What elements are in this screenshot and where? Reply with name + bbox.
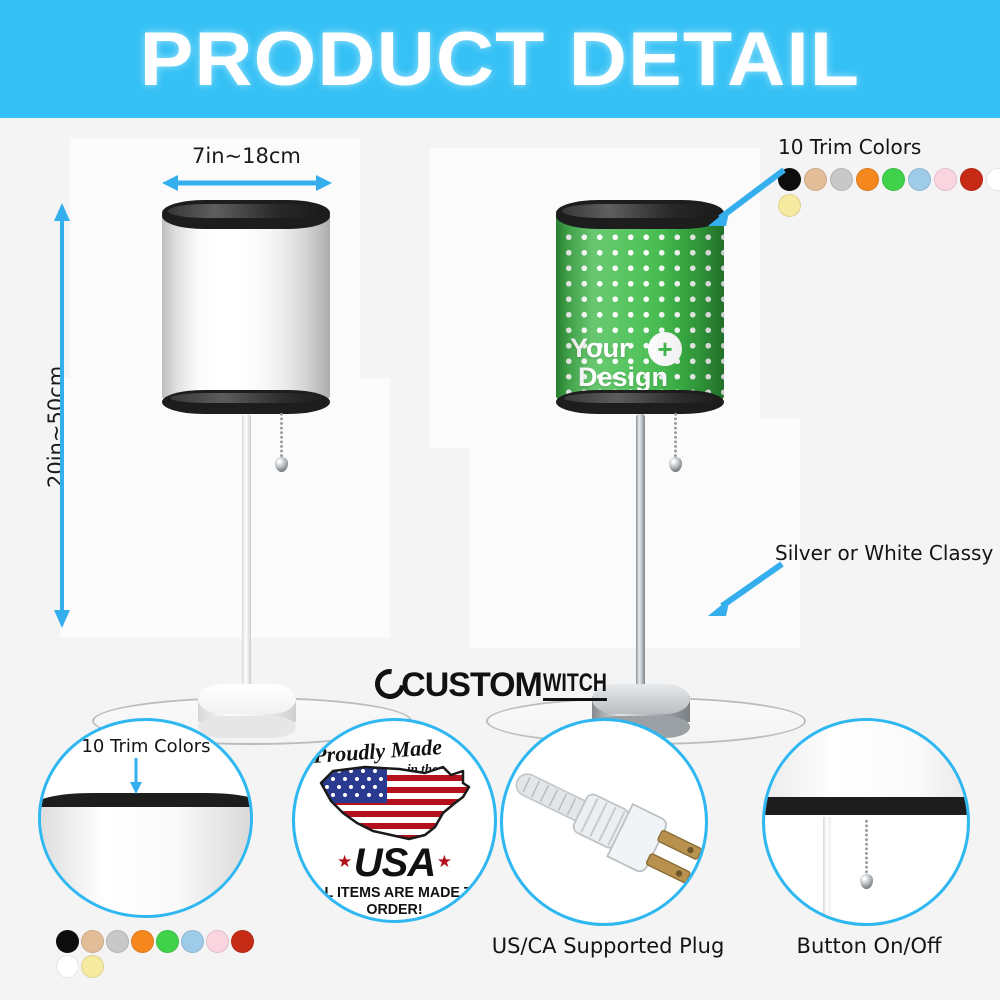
plus-circle-icon: +: [648, 332, 682, 366]
shade-gloss: [162, 210, 330, 400]
feature-trim-colors: 10 Trim Colors: [38, 718, 258, 1000]
pull-chain[interactable]: [280, 412, 282, 460]
swatch-tan[interactable]: [81, 930, 104, 953]
switch-pull-chain[interactable]: [865, 819, 867, 877]
swatch-gray[interactable]: [106, 930, 129, 953]
chain-bead: [669, 457, 682, 472]
usa-badge-footer: ALL ITEMS ARE MADE TO ORDER!: [300, 884, 489, 918]
made-in-usa-circle: Proudly Made in the: [292, 718, 497, 923]
chain-bead: [860, 874, 873, 889]
brand-name-sub: WITCH: [543, 670, 607, 701]
swatch-light-blue[interactable]: [181, 930, 204, 953]
trim-closeup-shade: [38, 807, 253, 918]
switch-shade-surface: [762, 721, 970, 799]
main-showcase: 7in~18cm 20in~50cm: [0, 118, 1000, 678]
lamp-white: [162, 200, 422, 640]
trim-color-swatches-bottom[interactable]: [56, 930, 256, 978]
shade-surface: [162, 210, 330, 400]
page-title: PRODUCT DETAIL: [140, 16, 860, 103]
feature-caption-plug: US/CA Supported Plug: [488, 934, 728, 958]
base-finish-label: Silver or White Classy: [775, 541, 993, 565]
feature-switch: Button On/Off: [762, 718, 982, 978]
shade-surface: Your Design +: [556, 210, 724, 400]
width-dimension-arrow: [162, 174, 332, 192]
base-finish-arrow: [700, 558, 790, 625]
swatch-pink[interactable]: [934, 168, 957, 191]
swatch-pink[interactable]: [206, 930, 229, 953]
chain-line: [280, 412, 283, 460]
swatch-yellow[interactable]: [81, 955, 104, 978]
feature-plug: US/CA Supported Plug: [500, 718, 720, 978]
product-detail-page: PRODUCT DETAIL 7in~18cm 20in~50cm: [0, 0, 1000, 1000]
usa-star-right-icon: ★: [437, 852, 452, 872]
trim-top: [162, 200, 330, 226]
power-plug-icon: [503, 721, 708, 926]
swatch-black[interactable]: [56, 930, 79, 953]
chain-bead: [275, 457, 288, 472]
swatch-white[interactable]: [56, 955, 79, 978]
swatch-white[interactable]: [986, 168, 1000, 191]
feature-caption-switch: Button On/Off: [774, 934, 964, 958]
lampshade-green: Your Design +: [556, 200, 724, 408]
trim-top: [556, 200, 724, 226]
trim-color-swatches[interactable]: [778, 168, 1000, 217]
swatch-light-blue[interactable]: [908, 168, 931, 191]
chain-line: [865, 819, 868, 877]
trim-colors-label: 10 Trim Colors: [778, 135, 921, 159]
swatch-orange[interactable]: [131, 930, 154, 953]
pull-chain[interactable]: [674, 412, 676, 460]
brand-logo: CUSTOM WITCH: [0, 660, 1000, 710]
swatch-red[interactable]: [231, 930, 254, 953]
switch-circle: [762, 718, 970, 926]
design-line-2: Design: [578, 363, 712, 392]
chain-line: [674, 412, 677, 460]
trim-bottom: [162, 390, 330, 414]
switch-pole: [823, 817, 831, 926]
height-dimension-arrow: [53, 203, 71, 628]
swatch-orange[interactable]: [856, 168, 879, 191]
lampshade-white: [162, 200, 330, 408]
usa-badge-word: USA: [295, 841, 494, 886]
swatch-red[interactable]: [960, 168, 983, 191]
trim-colors-arrow: [700, 164, 790, 235]
swatch-green[interactable]: [156, 930, 179, 953]
trim-closeup-arrow: [126, 758, 146, 799]
brand-name-main: CUSTOM: [401, 669, 542, 701]
swatch-tan[interactable]: [804, 168, 827, 191]
plug-circle: [500, 718, 708, 926]
your-design-text: Your Design: [570, 334, 712, 392]
header-banner: PRODUCT DETAIL: [0, 0, 1000, 118]
usa-flag-map-icon: [313, 757, 485, 847]
feature-made-in-usa: Proudly Made in the: [292, 718, 502, 928]
feature-caption-trim: 10 Trim Colors: [56, 736, 236, 757]
swatch-green[interactable]: [882, 168, 905, 191]
swatch-gray[interactable]: [830, 168, 853, 191]
switch-trim-band: [762, 797, 970, 815]
design-line-1: Your: [570, 333, 630, 363]
width-dimension-label: 7in~18cm: [192, 144, 301, 168]
trim-bottom: [556, 390, 724, 414]
